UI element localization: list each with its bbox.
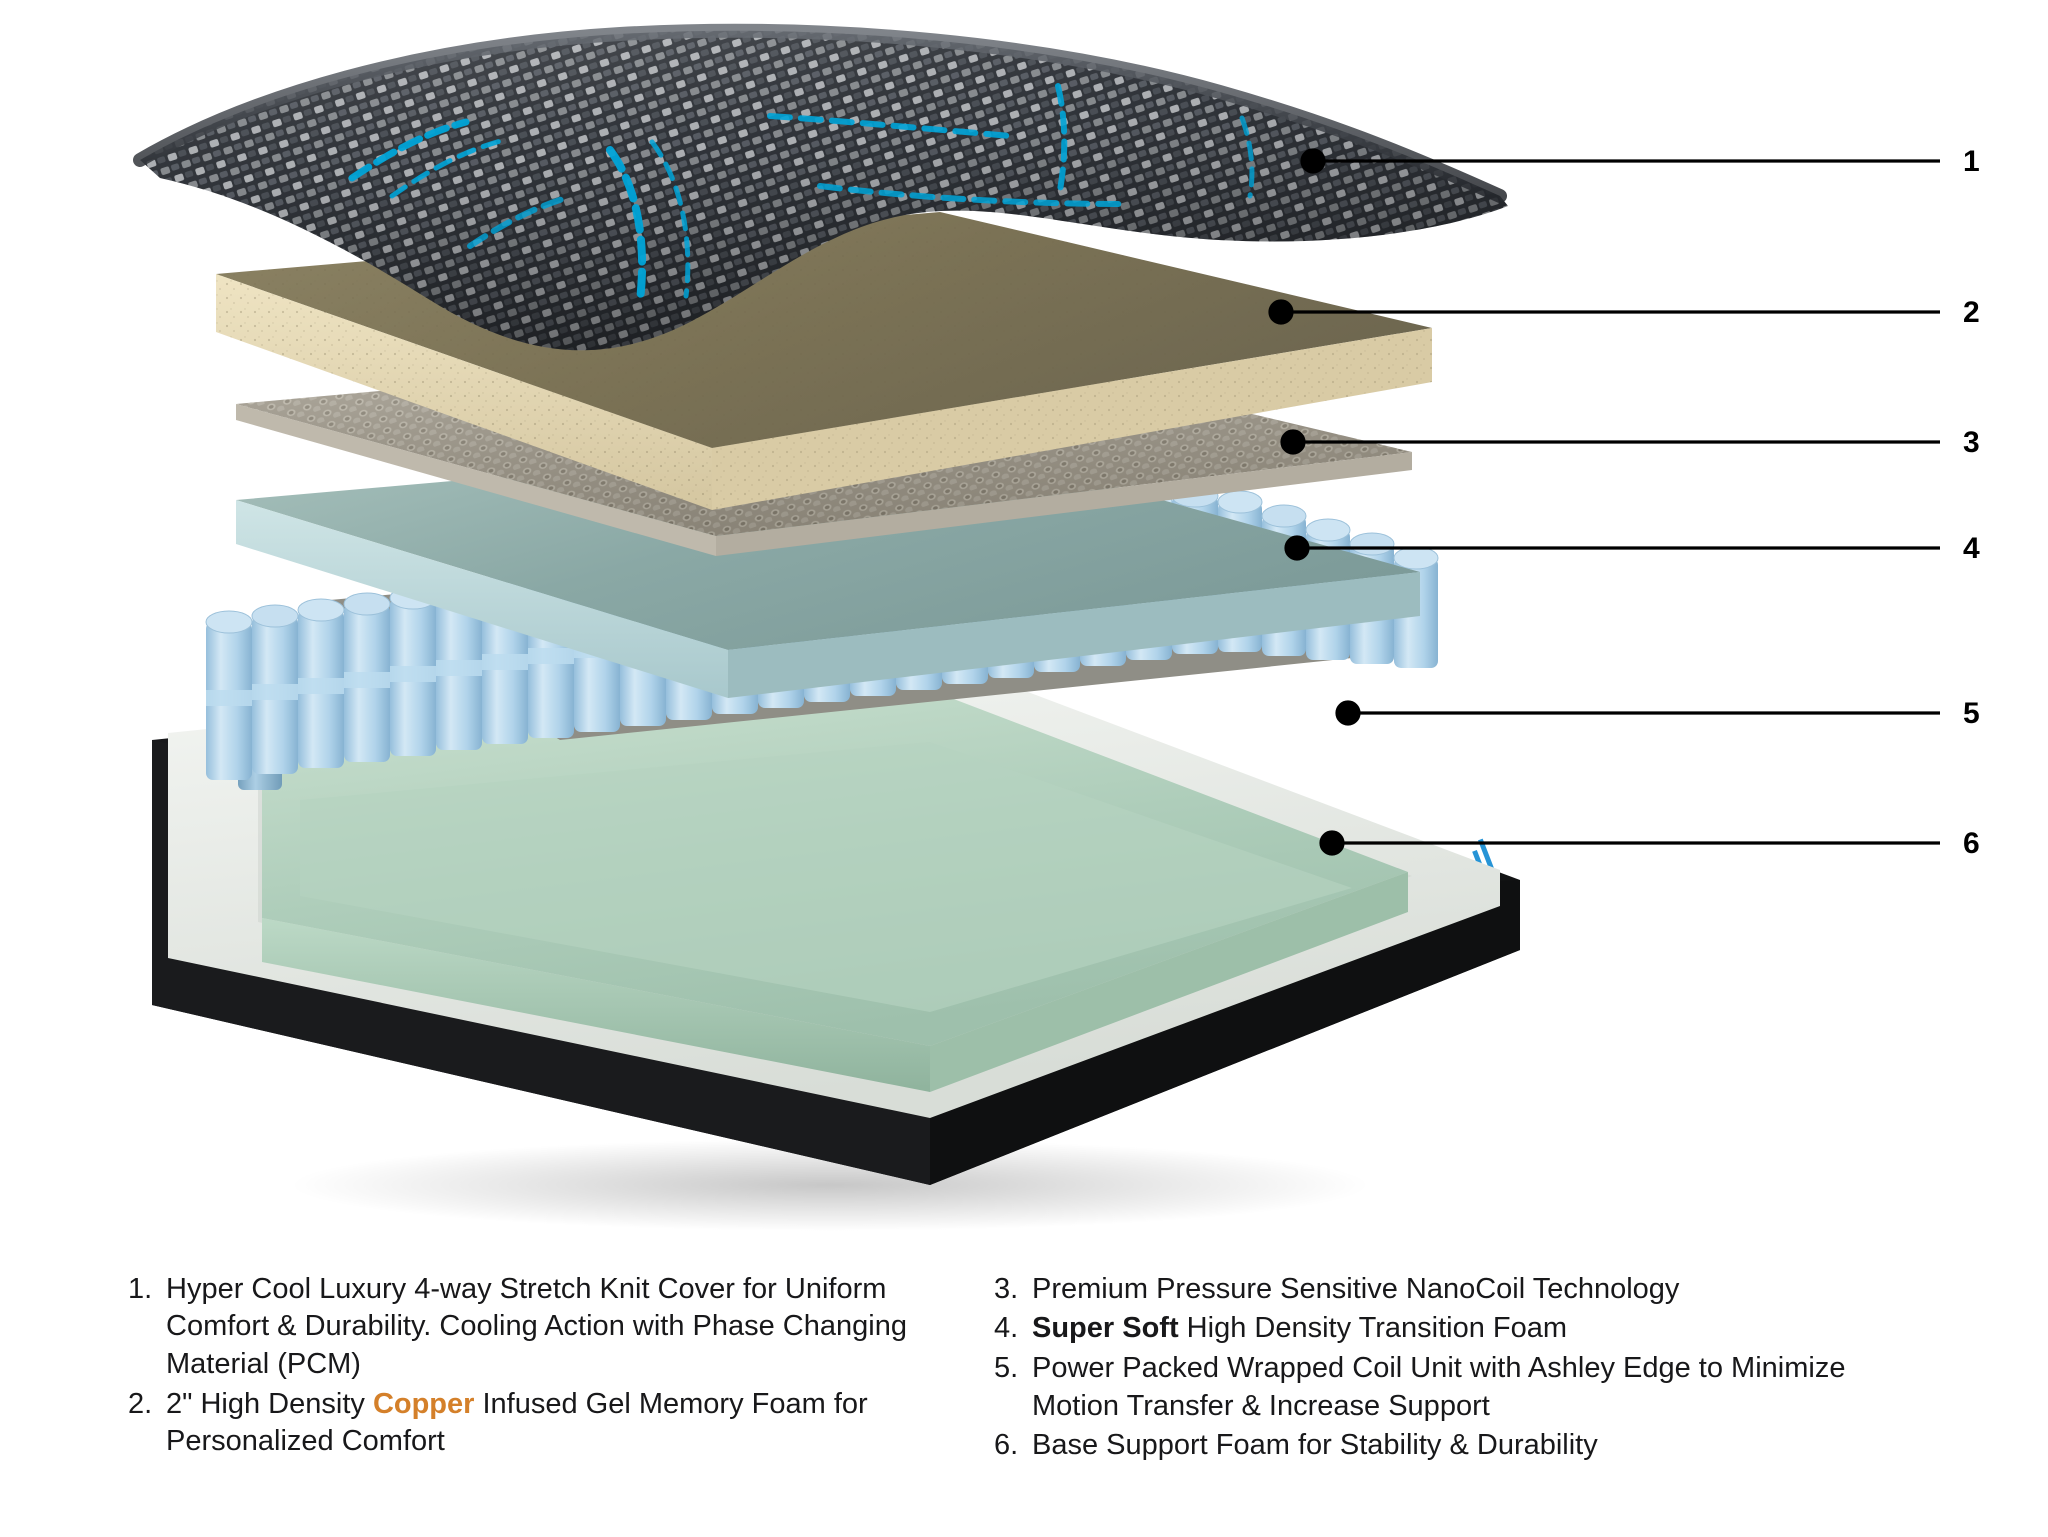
legend-item-text: Premium Pressure Sensitive NanoCoil Tech… [1032,1271,1854,1309]
legend-text-run: High Density Transition Foam [1179,1312,1567,1344]
legend-item-text: Super Soft High Density Transition Foam [1032,1310,1854,1348]
legend-copper-highlight: Copper [373,1388,475,1420]
legend-item-marker: 4. [994,1310,1032,1348]
callout-number-3: 3 [1963,428,1980,458]
legend-text-run: Premium Pressure Sensitive NanoCoil Tech… [1032,1273,1679,1305]
legend-item: 6.Base Support Foam for Stability & Dura… [994,1427,1854,1465]
legend-emphasis: Super Soft [1032,1312,1179,1344]
callout-leader-lines [1270,150,1940,854]
legend: 1.Hyper Cool Luxury 4-way Stretch Knit C… [0,1271,2048,1537]
legend-item-text: 2" High Density Copper Infused Gel Memor… [166,1386,958,1461]
legend-item-text: Hyper Cool Luxury 4-way Stretch Knit Cov… [166,1271,958,1384]
callout-number-1: 1 [1963,147,1980,177]
legend-text-run: Hyper Cool Luxury 4-way Stretch Knit Cov… [166,1273,907,1380]
callout-number-6: 6 [1963,829,1980,859]
legend-item-text: Base Support Foam for Stability & Durabi… [1032,1427,1854,1465]
legend-item: 2.2" High Density Copper Infused Gel Mem… [128,1386,958,1461]
legend-item-marker: 1. [128,1271,166,1309]
callout-number-4: 4 [1963,534,1980,564]
legend-item: 1.Hyper Cool Luxury 4-way Stretch Knit C… [128,1271,958,1384]
callout-number-2: 2 [1963,298,1980,328]
legend-text-run: Power Packed Wrapped Coil Unit with Ashl… [1032,1352,1845,1422]
legend-item-marker: 6. [994,1427,1032,1465]
legend-text-run: Base Support Foam for Stability & Durabi… [1032,1429,1598,1461]
legend-item-marker: 2. [128,1386,166,1424]
callout-leader-5 [1337,702,1940,724]
legend-item-marker: 5. [994,1350,1032,1388]
legend-item: 3.Premium Pressure Sensitive NanoCoil Te… [994,1271,1854,1309]
callout-number-5: 5 [1963,699,1980,729]
legend-item: 5.Power Packed Wrapped Coil Unit with As… [994,1350,1854,1425]
legend-item-marker: 3. [994,1271,1032,1309]
mattress-layers-illustration [0,0,2048,1250]
legend-column-right: 3.Premium Pressure Sensitive NanoCoil Te… [994,1271,1854,1467]
legend-item: 4.Super Soft High Density Transition Foa… [994,1310,1854,1348]
mattress-cutaway-diagram: 1 2 3 4 5 6 [0,0,2048,1250]
legend-text-run: 2" High Density [166,1388,373,1420]
legend-item-text: Power Packed Wrapped Coil Unit with Ashl… [1032,1350,1854,1425]
legend-column-left: 1.Hyper Cool Luxury 4-way Stretch Knit C… [128,1271,958,1463]
